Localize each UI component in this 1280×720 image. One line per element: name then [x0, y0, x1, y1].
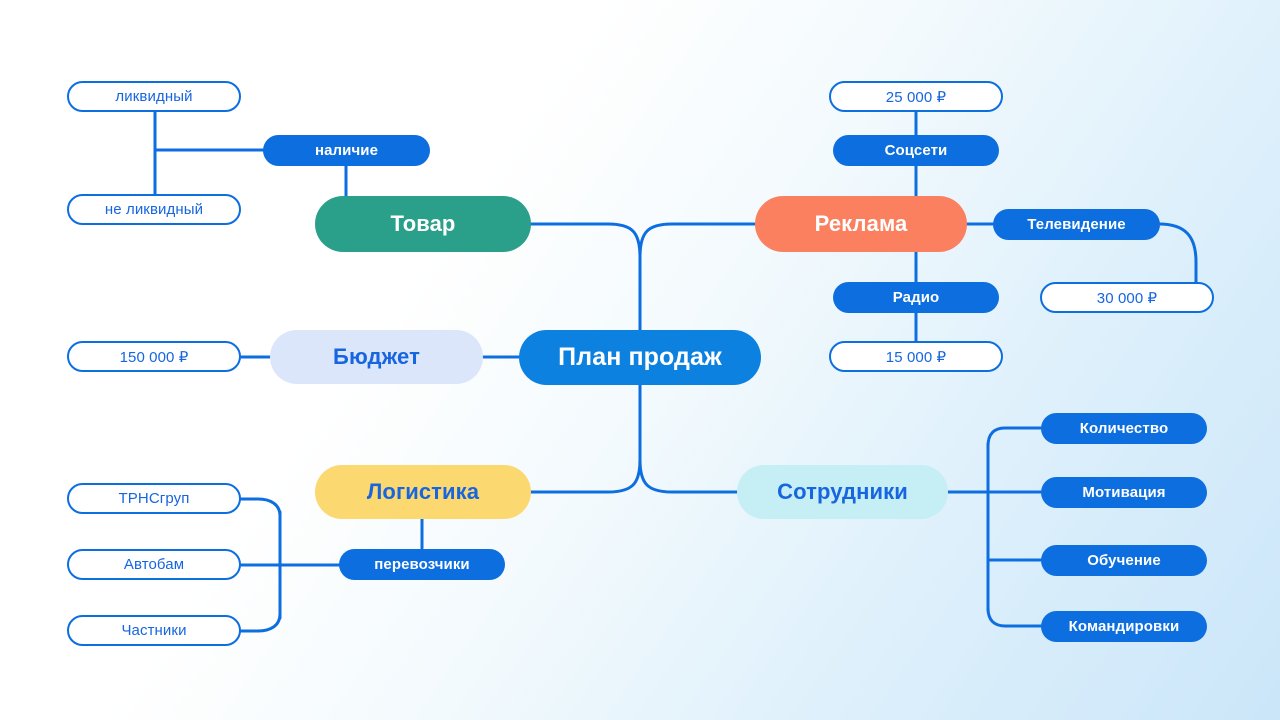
node-motivaciya[interactable]: Мотивация	[1041, 477, 1207, 508]
wire-tv-to-cost	[1159, 224, 1196, 282]
node-chastniki-label: Частники	[121, 622, 186, 639]
wire-trunk-to-kolichestvo	[988, 428, 1041, 446]
node-avtobam-label: Автобам	[124, 556, 184, 573]
wire-trunk-to-trnsgrup	[241, 499, 280, 516]
wire-center-to-tovar	[531, 224, 640, 257]
node-branch-sotrudniki[interactable]: Сотрудники	[737, 465, 948, 519]
node-budget-amount[interactable]: 150 000 ₽	[67, 341, 241, 372]
node-trnsgrup-label: ТРНСгруп	[119, 490, 190, 507]
node-budget-amount-label: 150 000 ₽	[120, 348, 189, 366]
node-branch-tovar-label: Товар	[391, 211, 456, 237]
wire-trunk-to-chastniki	[241, 614, 280, 631]
node-ne-likvidny-label: не ликвидный	[105, 201, 203, 218]
node-obuchenie-label: Обучение	[1087, 552, 1161, 569]
node-likvidny[interactable]: ликвидный	[67, 81, 241, 112]
node-branch-reklama[interactable]: Реклама	[755, 196, 967, 252]
node-center-plan-prodazh[interactable]: План продаж	[519, 330, 761, 385]
node-likvidny-label: ликвидный	[115, 88, 192, 105]
node-tv-cost-label: 30 000 ₽	[1097, 289, 1157, 307]
node-televidenie-label: Телевидение	[1027, 216, 1125, 233]
node-center-label: План продаж	[558, 343, 722, 372]
node-branch-logistika[interactable]: Логистика	[315, 465, 531, 519]
wire-center-to-reklama	[640, 224, 755, 257]
node-televidenie[interactable]: Телевидение	[993, 209, 1160, 240]
node-avtobam[interactable]: Автобам	[67, 549, 241, 580]
node-ne-likvidny[interactable]: не ликвидный	[67, 194, 241, 225]
node-komandirovki-label: Командировки	[1069, 618, 1180, 635]
node-socseti-cost-label: 25 000 ₽	[886, 88, 946, 106]
node-obuchenie[interactable]: Обучение	[1041, 545, 1207, 576]
node-radio-cost-label: 15 000 ₽	[886, 348, 946, 366]
node-komandirovki[interactable]: Командировки	[1041, 611, 1207, 642]
node-branch-tovar[interactable]: Товар	[315, 196, 531, 252]
node-perevozchiki[interactable]: перевозчики	[339, 549, 505, 580]
node-branch-logistika-label: Логистика	[367, 479, 479, 505]
node-nalichie-label: наличие	[315, 142, 378, 159]
node-branch-budget-label: Бюджет	[333, 344, 420, 370]
node-motivaciya-label: Мотивация	[1082, 484, 1165, 501]
wire-center-to-sotrudniki	[640, 460, 737, 492]
mindmap-canvas: План продаж Товар наличие ликвидный не л…	[0, 0, 1280, 720]
node-socseti[interactable]: Соцсети	[833, 135, 999, 166]
wire-center-to-logistika	[531, 460, 640, 492]
node-trnsgrup[interactable]: ТРНСгруп	[67, 483, 241, 514]
node-perevozchiki-label: перевозчики	[374, 556, 470, 573]
node-kolichestvo[interactable]: Количество	[1041, 413, 1207, 444]
wire-trunk-to-komandirovki	[988, 608, 1041, 626]
node-socseti-cost[interactable]: 25 000 ₽	[829, 81, 1003, 112]
node-kolichestvo-label: Количество	[1080, 420, 1168, 437]
node-radio-label: Радио	[893, 289, 940, 306]
node-radio[interactable]: Радио	[833, 282, 999, 313]
node-chastniki[interactable]: Частники	[67, 615, 241, 646]
node-nalichie[interactable]: наличие	[263, 135, 430, 166]
node-branch-sotrudniki-label: Сотрудники	[777, 479, 908, 505]
node-branch-reklama-label: Реклама	[815, 211, 908, 237]
node-radio-cost[interactable]: 15 000 ₽	[829, 341, 1003, 372]
node-tv-cost[interactable]: 30 000 ₽	[1040, 282, 1214, 313]
node-branch-budget[interactable]: Бюджет	[270, 330, 483, 384]
node-socseti-label: Соцсети	[885, 142, 948, 159]
